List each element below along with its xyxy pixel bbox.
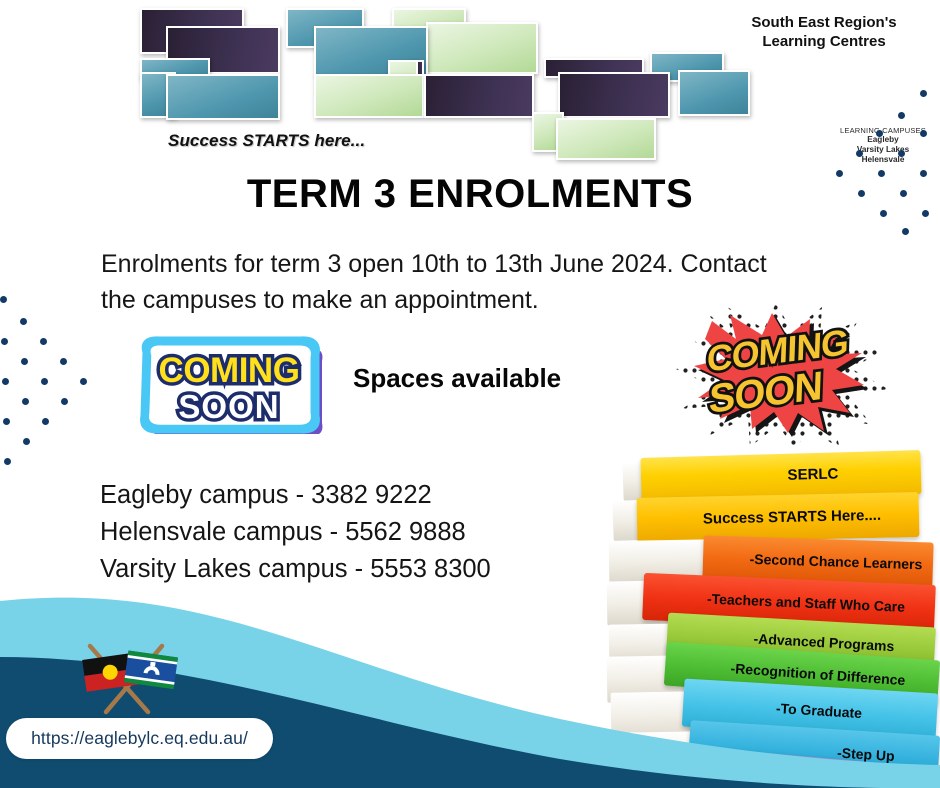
website-url-pill[interactable]: https://eaglebylc.eq.edu.au/: [6, 718, 273, 759]
indigenous-flags-icon: [72, 632, 184, 718]
logo-title: South East Region's Learning Centres: [724, 14, 924, 52]
poster-canvas: South East Region's Learning Centres LEA…: [0, 0, 940, 788]
logo-tagline: Success STARTS here...: [168, 131, 365, 151]
book-label-2: Success STARTS Here....: [637, 492, 920, 543]
intro-line-1: Enrolments for term 3 open 10th to 13th …: [101, 247, 871, 283]
campus-contact-helensvale: Helensvale campus - 5562 9888: [100, 514, 620, 551]
logo-tile-green-2: [426, 22, 538, 74]
book-2: Success STARTS Here....: [637, 492, 920, 543]
svg-text:SOON: SOON: [178, 388, 279, 425]
logo-tile-teal-7: [678, 70, 750, 116]
coming-soon-sticker-icon: COMING SOON: [133, 336, 326, 434]
svg-text:COMING: COMING: [159, 351, 300, 390]
logo-title-line1: South East Region's: [751, 14, 896, 31]
campus-contact-eagleby: Eagleby campus - 3382 9222: [100, 477, 620, 514]
comic-burst-coming-soon-icon: COMING SOON: [672, 303, 890, 451]
dot-pattern-left: [0, 296, 96, 486]
page-title: TERM 3 ENROLMENTS: [0, 172, 940, 217]
logo-tile-green-6: [556, 118, 656, 160]
logo-tile-teal-6: [166, 74, 280, 120]
logo-tile-green-4: [314, 74, 424, 118]
logo-title-line2: Learning Centres: [762, 33, 885, 50]
logo-tile-dark-5: [424, 74, 534, 118]
logo-tile-dark-6: [558, 72, 670, 118]
spaces-available-text: Spaces available: [353, 363, 561, 394]
campus-contact-list: Eagleby campus - 3382 9222 Helensvale ca…: [100, 477, 620, 589]
